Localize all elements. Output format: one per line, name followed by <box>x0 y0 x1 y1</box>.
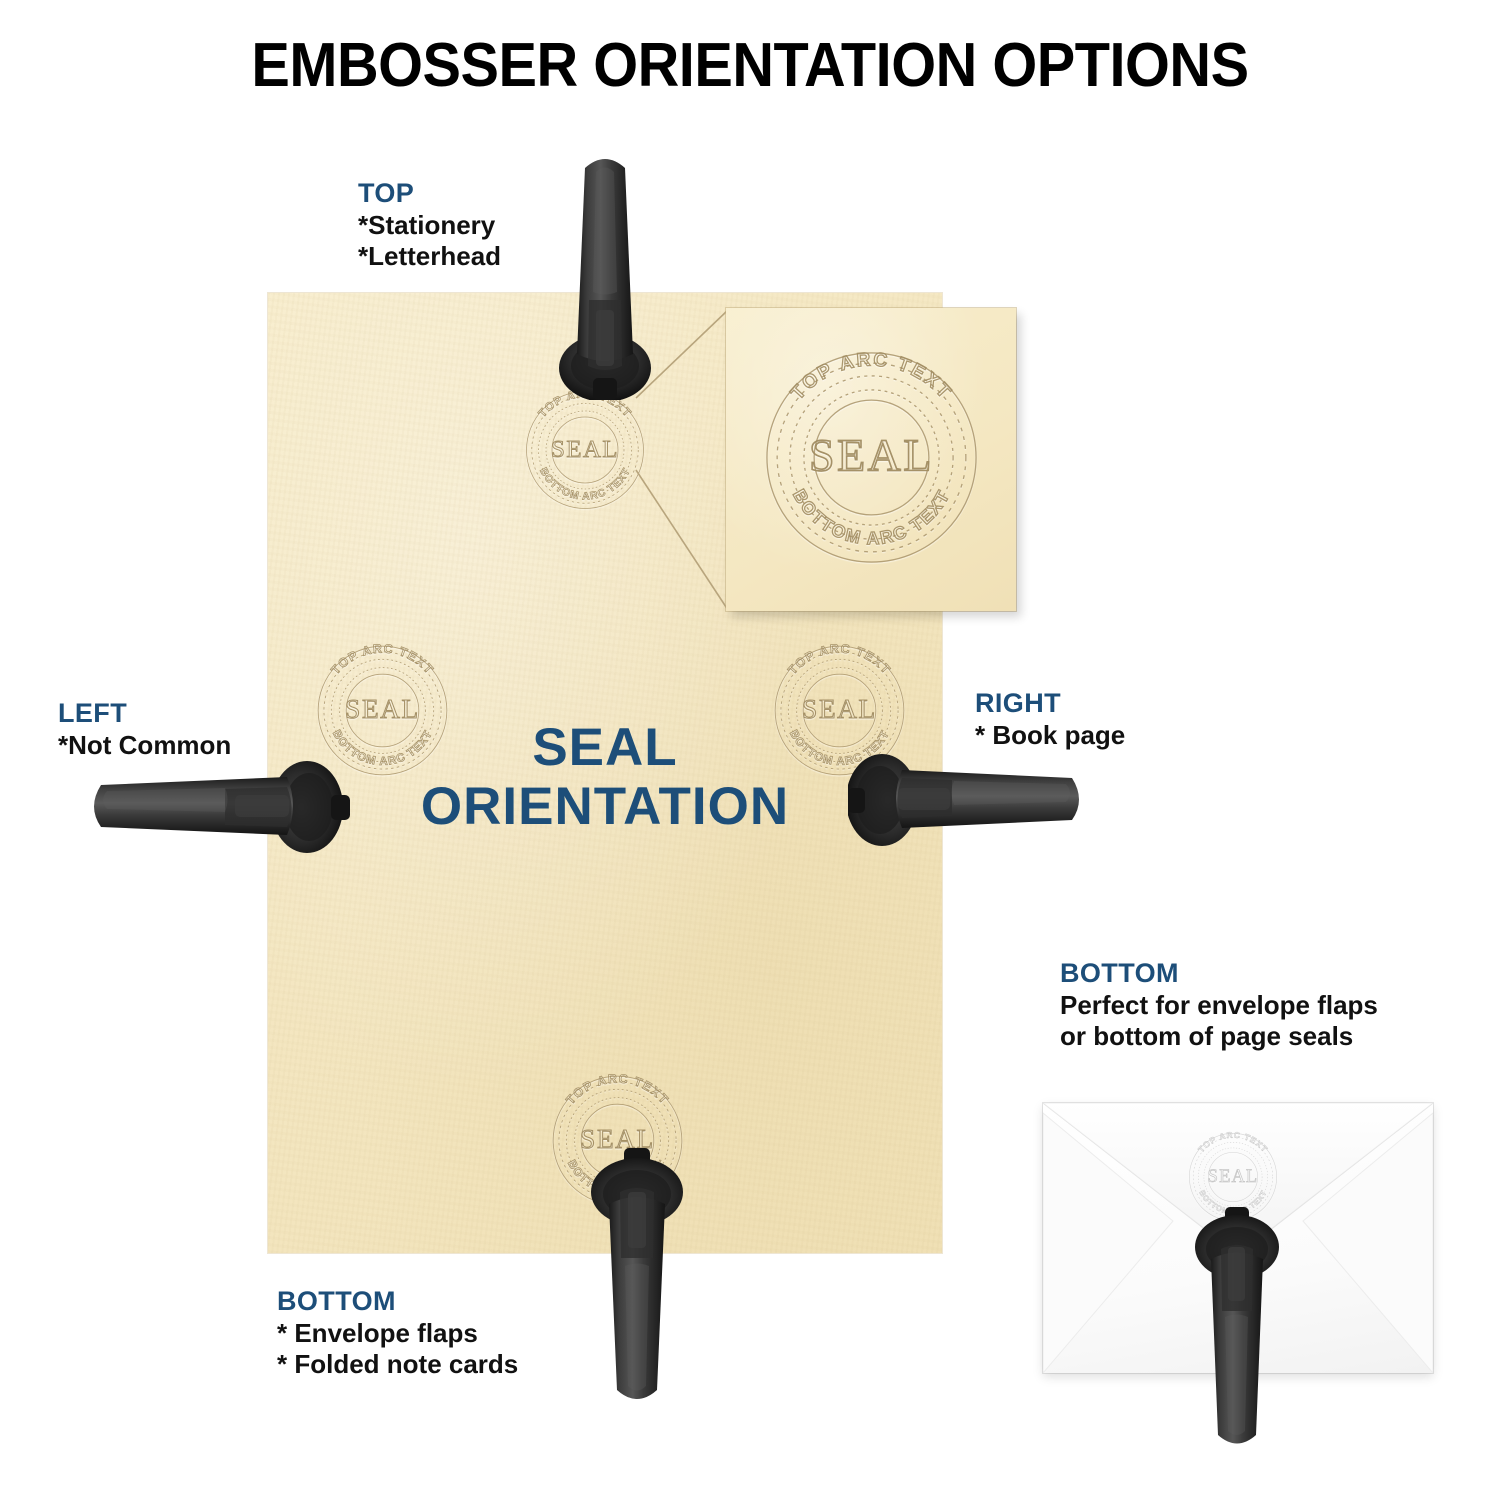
label-top: TOP *Stationery *Letterhead <box>358 178 501 272</box>
label-top-line1: *Stationery <box>358 210 501 241</box>
label-left: LEFT *Not Common <box>58 698 231 761</box>
seal-bottom-arc-text: BOTTOM ARC TEXT <box>789 486 954 548</box>
label-bottom-envelope-heading: BOTTOM <box>1060 958 1378 990</box>
label-bottom-page-line1: * Envelope flaps <box>277 1318 518 1349</box>
magnified-seal-callout: TOP ARC TEXT BOTTOM ARC TEXT SEAL <box>726 308 1016 611</box>
label-left-line1: *Not Common <box>58 730 231 761</box>
svg-text:BOTTOM ARC TEXT: BOTTOM ARC TEXT <box>789 486 954 548</box>
label-bottom-envelope: BOTTOM Perfect for envelope flaps or bot… <box>1060 958 1378 1052</box>
seal-center-word: SEAL <box>809 429 934 480</box>
svg-text:TOP ARC TEXT: TOP ARC TEXT <box>787 349 956 404</box>
label-top-heading: TOP <box>358 178 501 210</box>
envelope-mockup: TOP ARC TEXT BOTTOM ARC TEXT SEAL <box>1043 1103 1433 1373</box>
label-bottom-page: BOTTOM * Envelope flaps * Folded note ca… <box>277 1286 518 1380</box>
label-right: RIGHT * Book page <box>975 688 1125 751</box>
label-left-heading: LEFT <box>58 698 231 730</box>
label-top-line2: *Letterhead <box>358 241 501 272</box>
label-right-line1: * Book page <box>975 720 1125 751</box>
label-bottom-envelope-line1: Perfect for envelope flaps <box>1060 990 1378 1021</box>
label-bottom-page-line2: * Folded note cards <box>277 1349 518 1380</box>
envelope-flap-icon <box>1043 1103 1433 1373</box>
seal-impression-magnified: TOP ARC TEXT BOTTOM ARC TEXT SEAL <box>744 330 999 585</box>
seal-top-arc-text: TOP ARC TEXT <box>787 349 956 404</box>
page-title: EMBOSSER ORIENTATION OPTIONS <box>53 30 1448 101</box>
label-right-heading: RIGHT <box>975 688 1125 720</box>
infographic-canvas: EMBOSSER ORIENTATION OPTIONS TOP ARC TEX… <box>0 0 1500 1500</box>
label-bottom-page-heading: BOTTOM <box>277 1286 518 1318</box>
label-bottom-envelope-line2: or bottom of page seals <box>1060 1021 1378 1052</box>
